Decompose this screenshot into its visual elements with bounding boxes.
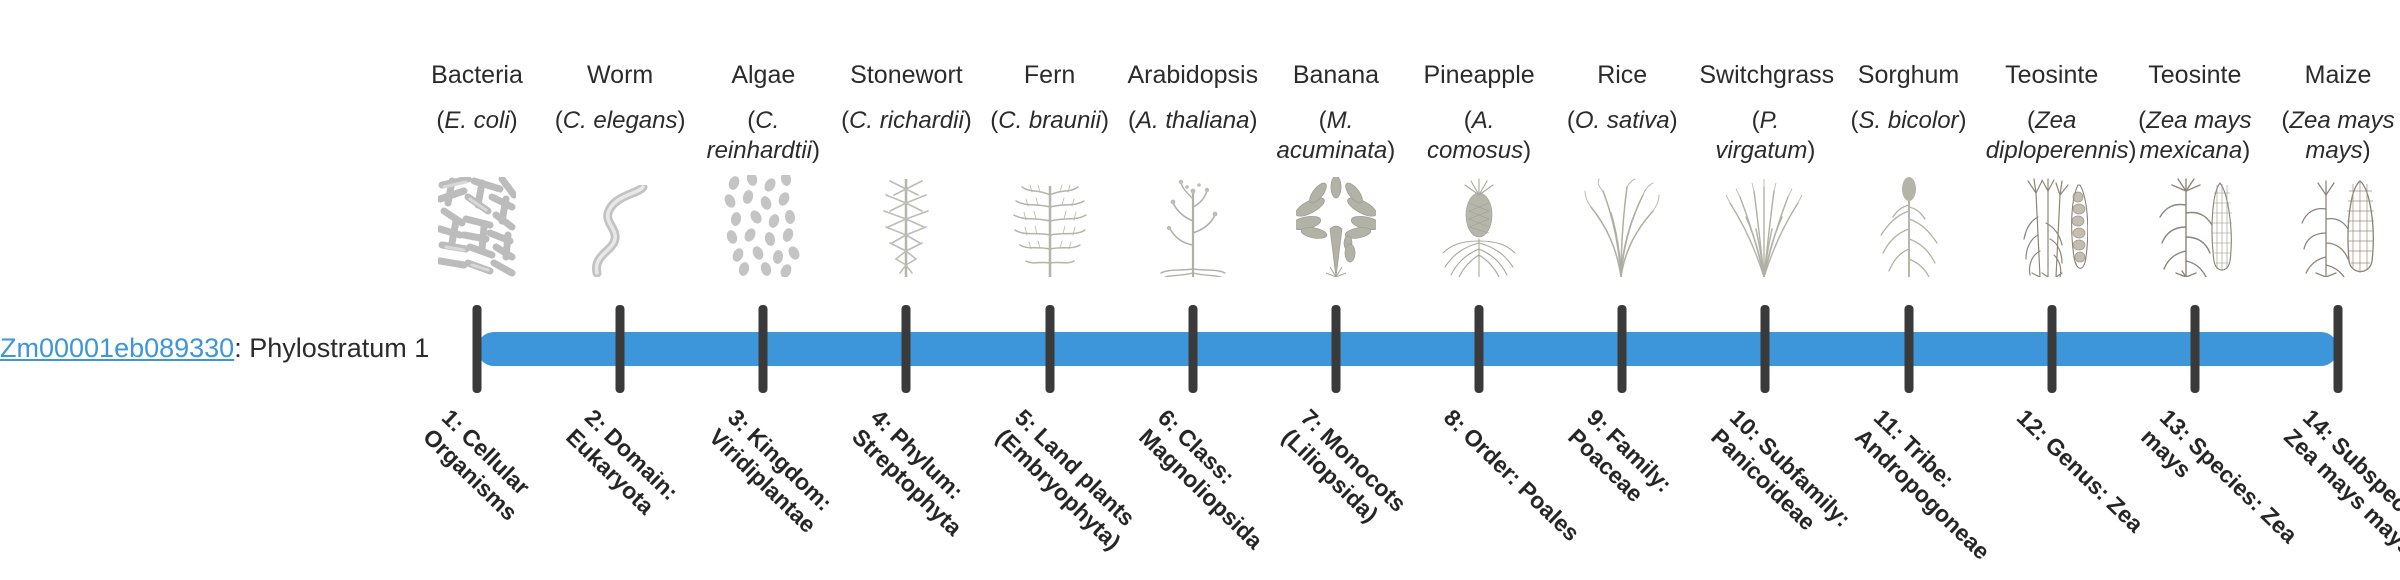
sorghum-plant-icon — [1843, 172, 1975, 277]
banana-tree-icon — [1270, 172, 1402, 277]
species-latin-name: (M. acuminata) — [1270, 106, 1402, 166]
species-common-name: Banana — [1270, 60, 1402, 90]
species-latin-text: C. reinhardtii — [707, 107, 812, 164]
phylostratum-tick[interactable] — [2334, 305, 2343, 393]
phylostratum-tick[interactable] — [1475, 305, 1484, 393]
phylostratum-label[interactable]: 7: Monocots (Liliopsida) — [1276, 404, 1450, 575]
species-latin-name: (C. reinhardtii) — [697, 106, 829, 166]
bacteria-rods-icon — [411, 172, 543, 277]
phylostratum-tick[interactable] — [616, 305, 625, 393]
phylostratum-tick[interactable] — [759, 305, 768, 393]
species-column: Switchgrass(P. virgatum) — [1699, 0, 1831, 277]
species-common-name: Worm — [554, 60, 686, 90]
species-column: Fern(C. braunii) — [984, 0, 1116, 277]
species-latin-name: (P. virgatum) — [1699, 106, 1831, 166]
species-common-name: Algae — [697, 60, 829, 90]
phylostratum-label[interactable]: 13: Species: Zea mays — [2135, 404, 2309, 575]
species-column: Stonewort(C. richardii) — [840, 0, 972, 277]
arabidopsis-icon — [1127, 172, 1259, 277]
species-latin-name: (C. richardii) — [840, 106, 972, 166]
rice-plant-icon — [1556, 172, 1688, 277]
species-latin-text: P. virgatum — [1715, 107, 1807, 164]
phylostratum-label[interactable]: 3: Kingdom: Viridiplantae — [704, 404, 878, 575]
species-latin-text: O. sativa — [1575, 107, 1670, 134]
species-column: Teosinte(Zea mays mexicana) — [2129, 0, 2261, 277]
gene-phylostratum-value: Phylostratum 1 — [249, 333, 429, 363]
phylostratum-tick[interactable] — [1045, 305, 1054, 393]
phylostratum-label[interactable]: 1: Cellular Organisms — [417, 404, 591, 575]
species-latin-name: (A. thaliana) — [1127, 106, 1259, 166]
species-common-name: Maize — [2272, 60, 2400, 90]
species-latin-name: (Zea diploperennis) — [1986, 106, 2118, 166]
species-column: Pineapple(A. comosus) — [1413, 0, 1545, 277]
phylostratum-tick[interactable] — [1904, 305, 1913, 393]
phylostratum-label[interactable]: 4: Phylum: Streptophyta — [847, 404, 1021, 575]
nematode-worm-icon — [554, 172, 686, 277]
phylostratum-tick[interactable] — [1188, 305, 1197, 393]
species-latin-name: (C. elegans) — [554, 106, 686, 166]
species-latin-text: Zea mays mays — [2289, 107, 2394, 164]
phylostratum-label[interactable]: 6: Class: Magnoliopsida — [1133, 404, 1307, 575]
species-common-name: Fern — [984, 60, 1116, 90]
phylostratum-tick[interactable] — [902, 305, 911, 393]
gene-phylostratum-label: Zm00001eb089330: Phylostratum 1 — [0, 332, 415, 364]
gene-label-separator: : — [234, 333, 249, 363]
fern-frond-icon — [984, 172, 1116, 277]
species-latin-name: (S. bicolor) — [1843, 106, 1975, 166]
phylostratum-tick[interactable] — [1761, 305, 1770, 393]
maize-ear-icon — [2272, 172, 2400, 277]
species-latin-text: S. bicolor — [1859, 107, 1959, 134]
species-latin-text: C. braunii — [998, 107, 1101, 134]
phylostratum-label[interactable]: 9: Family: Poaceae — [1563, 404, 1737, 575]
species-latin-text: A. comosus — [1427, 107, 1523, 164]
phylostratum-tick[interactable] — [1618, 305, 1627, 393]
species-latin-text: C. richardii — [849, 107, 964, 134]
species-latin-name: (Zea mays mexicana) — [2129, 106, 2261, 166]
species-latin-name: (C. braunii) — [984, 106, 1116, 166]
phylostratum-label[interactable]: 12: Genus: Zea — [2011, 404, 2166, 555]
species-common-name: Bacteria — [411, 60, 543, 90]
species-column: Worm(C. elegans) — [554, 0, 686, 277]
phylostratum-label[interactable]: 2: Domain: Eukaryota — [561, 404, 735, 575]
species-column: Algae(C. reinhardtii) — [697, 0, 829, 277]
species-column: Arabidopsis(A. thaliana) — [1127, 0, 1259, 277]
species-column: Rice(O. sativa) — [1556, 0, 1688, 277]
species-latin-name: (O. sativa) — [1556, 106, 1688, 166]
phylostratum-tick[interactable] — [2190, 305, 2199, 393]
species-common-name: Rice — [1556, 60, 1688, 90]
species-common-name: Teosinte — [1986, 60, 2118, 90]
pineapple-plant-icon — [1413, 172, 1545, 277]
species-track-area: Bacteria(E. coli)Worm(C. elegans)Algae(C… — [415, 0, 2400, 580]
phylostratum-tick[interactable] — [473, 305, 482, 393]
stonewort-icon — [840, 172, 972, 277]
phylostratum-label[interactable]: 11: Tribe: Andropogoneae — [1849, 404, 2023, 575]
species-latin-text: C. elegans — [563, 107, 678, 134]
teosinte-diploperennis-icon — [1986, 172, 2118, 277]
teosinte-mexicana-icon — [2129, 172, 2261, 277]
algae-cells-icon — [697, 172, 829, 277]
phylostratum-bar[interactable] — [477, 332, 2338, 366]
phylostratigraphy-figure: Zm00001eb089330: Phylostratum 1 Bacteria… — [0, 0, 2400, 580]
species-column: Banana(M. acuminata) — [1270, 0, 1402, 277]
species-latin-text: M. acuminata — [1277, 107, 1388, 164]
species-latin-name: (E. coli) — [411, 106, 543, 166]
species-latin-text: Zea diploperennis — [1986, 107, 2129, 164]
phylostratum-label[interactable]: 5: Land plants (Embryophyta) — [990, 404, 1164, 575]
species-latin-text: Zea mays mexicana — [2139, 107, 2251, 164]
species-column: Bacteria(E. coli) — [411, 0, 543, 277]
species-latin-name: (A. comosus) — [1413, 106, 1545, 166]
species-common-name: Teosinte — [2129, 60, 2261, 90]
species-column: Sorghum(S. bicolor) — [1843, 0, 1975, 277]
species-latin-text: A. thaliana — [1136, 107, 1249, 134]
gene-id-link[interactable]: Zm00001eb089330 — [0, 333, 234, 363]
species-common-name: Arabidopsis — [1127, 60, 1259, 90]
phylostratum-label[interactable]: 8: Order: Poales — [1438, 404, 1593, 555]
species-column: Maize(Zea mays mays) — [2272, 0, 2400, 277]
phylostratum-tick[interactable] — [1331, 305, 1340, 393]
phylostratum-tick[interactable] — [2047, 305, 2056, 393]
species-column: Teosinte(Zea diploperennis) — [1986, 0, 2118, 277]
phylostratum-label[interactable]: 10: Subfamily: Panicoideae — [1706, 404, 1880, 575]
species-latin-name: (Zea mays mays) — [2272, 106, 2400, 166]
species-common-name: Sorghum — [1843, 60, 1975, 90]
switchgrass-icon — [1699, 172, 1831, 277]
species-latin-text: E. coli — [444, 107, 509, 134]
species-common-name: Pineapple — [1413, 60, 1545, 90]
species-common-name: Switchgrass — [1699, 60, 1831, 90]
species-common-name: Stonewort — [840, 60, 972, 90]
